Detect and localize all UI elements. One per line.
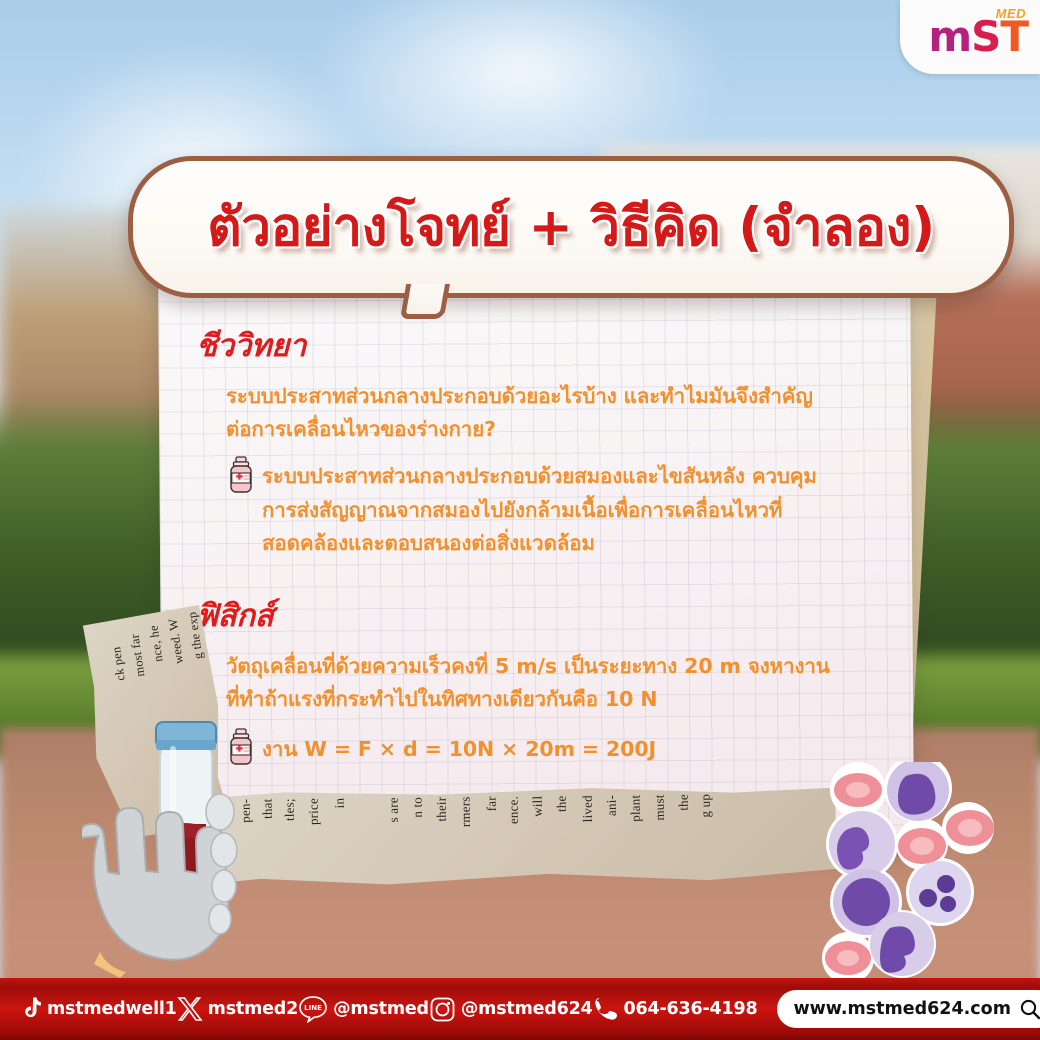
newspaper-column: weed. W — [165, 617, 188, 665]
question-line: ที่ทำถ้าแรงที่กระทำไปในทิศทางเดียวกันคือ… — [226, 683, 896, 716]
page-title: ตัวอย่างโจทย์ + วิธีคิด (จำลอง) — [133, 161, 1009, 293]
answer-text-block: ระบบประสาทส่วนกลางประกอบด้วยสมองและไขสัน… — [262, 460, 896, 560]
physics-answer: งาน W = F × d = 10N × 20m = 200J — [226, 732, 896, 766]
newspaper-column: plant — [628, 795, 645, 822]
footer-item-tiktok[interactable]: mstmedwell1 — [18, 996, 177, 1022]
newspaper-column: ck pen — [108, 646, 129, 682]
physics-question: วัตถุเคลื่อนที่ด้วยความเร็วคงที่ 5 m/s เ… — [196, 650, 896, 766]
newspaper-column: n to — [410, 797, 427, 818]
answer-text-block: งาน W = F × d = 10N × 20m = 200J — [262, 733, 896, 766]
newspaper-column: far — [484, 796, 501, 811]
newspaper-column: g up — [698, 794, 715, 818]
newspaper-column: lived — [580, 795, 597, 822]
footer-item-phone[interactable]: 064-636-4198 — [593, 996, 758, 1022]
latex-glove — [82, 808, 228, 960]
logo-letter-t: T — [1000, 12, 1028, 61]
footer-contact-bar: mstmedwell1 mstmed2 LINE @mstmed @mstmed… — [0, 978, 1040, 1040]
svg-text:LINE: LINE — [304, 1004, 322, 1012]
footer-item-instagram[interactable]: @mstmed624 — [429, 996, 593, 1023]
newspaper-column: ence. — [506, 796, 523, 824]
newspaper-column: most far — [127, 633, 150, 678]
footer-item-x[interactable]: mstmed2 — [177, 996, 298, 1022]
section-heading-biology: ชีววิทยา — [196, 320, 896, 370]
website-button[interactable]: www.mstmed624.com — [777, 990, 1040, 1028]
logo-mst-text: mST — [928, 16, 1028, 58]
question-line: ต่อการเคลื่อนไหวของร่างกาย? — [226, 413, 896, 446]
glove-cuff — [94, 952, 126, 978]
section-heading-physics: ฟิสิกส์ — [196, 590, 896, 640]
footer-label-x: mstmed2 — [208, 999, 298, 1019]
newspaper-column: price — [306, 798, 323, 825]
gloved-hand-blood-tube-illustration — [82, 716, 292, 978]
brand-logo: MED mST — [900, 0, 1040, 74]
newspaper-column: must — [652, 794, 669, 820]
section-physics: ฟิสิกส์ วัตถุเคลื่อนที่ด้วยความเร็วคงที่… — [196, 590, 896, 766]
footer-label-tiktok: mstmedwell1 — [47, 999, 177, 1019]
biology-question: ระบบประสาทส่วนกลางประกอบด้วยอะไรบ้าง และ… — [196, 380, 896, 560]
content-area: ชีววิทยา ระบบประสาทส่วนกลางประกอบด้วยอะไ… — [196, 320, 896, 766]
newspaper-column: s are — [386, 797, 403, 822]
search-icon[interactable] — [1019, 998, 1040, 1020]
line-icon[interactable]: LINE — [298, 995, 328, 1023]
newspaper-column: will — [530, 796, 547, 817]
footer-label-phone: 064-636-4198 — [624, 999, 758, 1019]
answer-line: งาน W = F × d = 10N × 20m = 200J — [262, 733, 896, 766]
footer-label-instagram: @mstmed624 — [461, 999, 593, 1019]
phone-icon[interactable] — [593, 996, 619, 1022]
title-speech-bubble: ตัวอย่างโจทย์ + วิธีคิด (จำลอง) — [128, 156, 1014, 298]
x-twitter-icon[interactable] — [177, 996, 203, 1022]
footer-label-line: @mstmed — [333, 999, 429, 1019]
logo-letter-s: S — [971, 12, 1000, 61]
newspaper-column: ani- — [604, 795, 621, 816]
question-line: ระบบประสาทส่วนกลางประกอบด้วยอะไรบ้าง และ… — [226, 380, 896, 413]
instagram-icon[interactable] — [429, 996, 456, 1023]
answer-line: สอดคล้องและตอบสนองต่อสิ่งแวดล้อม — [262, 527, 896, 560]
newspaper-column: rmers — [458, 796, 475, 827]
newspaper-column: in — [332, 798, 349, 809]
answer-line: ระบบประสาทส่วนกลางประกอบด้วยสมองและไขสัน… — [262, 460, 896, 493]
footer-item-line[interactable]: LINE @mstmed — [298, 995, 429, 1023]
tiktok-icon[interactable] — [18, 996, 42, 1022]
question-line: วัตถุเคลื่อนที่ด้วยความเร็วคงที่ 5 m/s เ… — [226, 650, 896, 683]
biology-answer: ระบบประสาทส่วนกลางประกอบด้วยสมองและไขสัน… — [226, 460, 896, 560]
newspaper-column: their — [434, 797, 451, 822]
newspaper-column: the — [676, 794, 693, 811]
logo-letter-m: m — [928, 12, 971, 61]
newspaper-column: nce, he — [146, 624, 168, 663]
newspaper-column: the — [554, 795, 571, 812]
section-biology: ชีววิทยา ระบบประสาทส่วนกลางประกอบด้วยอะไ… — [196, 320, 896, 560]
website-url: www.mstmed624.com — [793, 999, 1011, 1019]
blood-cells-illustration — [822, 762, 1022, 980]
medicine-bottle-icon — [226, 456, 256, 494]
answer-line: การส่งสัญญาณจากสมองไปยังกล้ามเนื้อเพื่อก… — [262, 494, 896, 527]
